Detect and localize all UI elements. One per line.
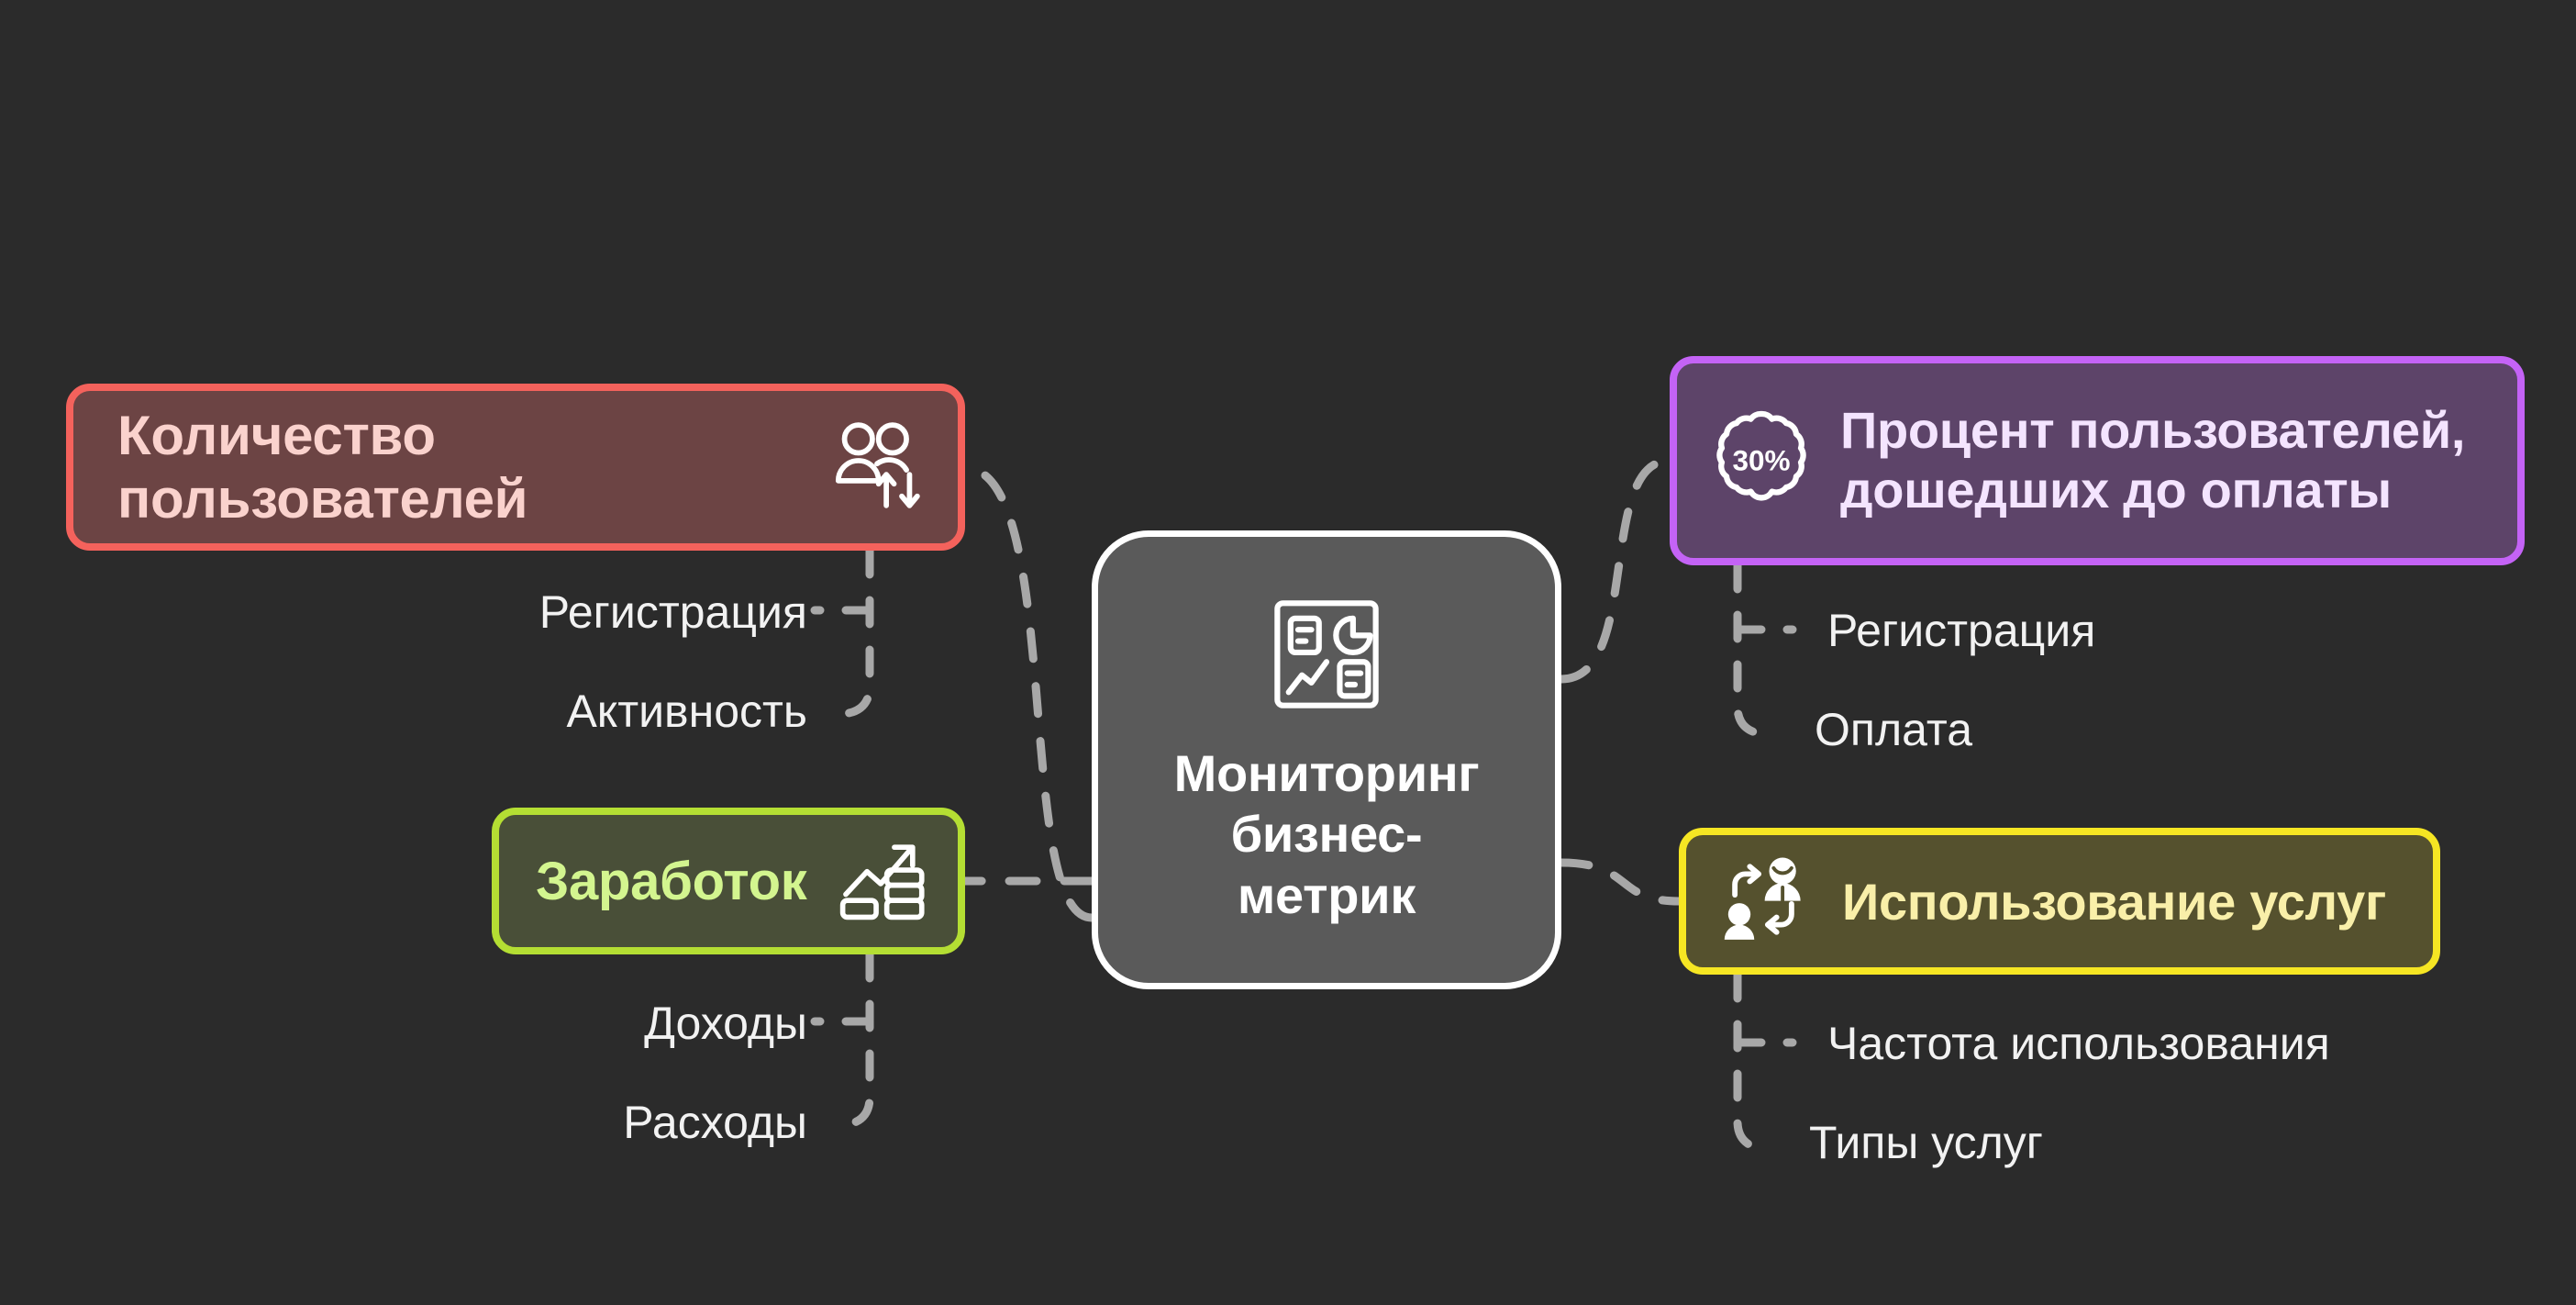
dashboard-report-icon xyxy=(1266,594,1387,719)
sub-label-services-types: Типы услуг xyxy=(1809,1116,2043,1169)
sub-label-conversion-registration: Регистрация xyxy=(1827,604,2095,657)
branch-node-services-label: Использование услуг xyxy=(1842,872,2386,931)
percent-badge-30-icon: 30% xyxy=(1710,407,1813,515)
percent-badge-text: 30% xyxy=(1732,443,1790,476)
center-node-label: Мониторинг бизнес- метрик xyxy=(1174,743,1480,925)
edge-center-to-services xyxy=(1561,863,1679,901)
edge-services-children xyxy=(1738,975,1768,1149)
sub-label-services-frequency: Частота использования xyxy=(1827,1017,2330,1070)
branch-node-users-label: Количество пользователей xyxy=(117,404,827,530)
branch-node-earnings-label: Заработок xyxy=(536,851,807,912)
branch-node-conversion-label: Процент пользователей, дошедших до оплат… xyxy=(1840,401,2465,520)
sub-label-earnings-expenses: Расходы xyxy=(0,1096,807,1149)
center-node[interactable]: Мониторинг бизнес- метрик xyxy=(1092,530,1561,989)
edge-earnings-children xyxy=(839,954,870,1125)
branch-node-services[interactable]: Использование услуг xyxy=(1679,828,2440,975)
sub-label-users-activity: Активность xyxy=(0,685,807,738)
edge-users-children xyxy=(839,551,870,714)
sub-label-users-registration: Регистрация xyxy=(0,586,807,639)
growth-coins-icon xyxy=(837,831,934,932)
branch-node-users[interactable]: Количество пользователей xyxy=(66,384,965,551)
edge-conversion-children xyxy=(1738,565,1768,734)
edge-center-to-users xyxy=(965,468,1092,918)
edge-center-to-conversion xyxy=(1561,461,1670,679)
mindmap-canvas: Мониторинг бизнес- метрик Количество пол… xyxy=(0,0,2576,1305)
sub-label-conversion-payment: Оплата xyxy=(1815,703,1972,756)
branch-node-earnings[interactable]: Заработок xyxy=(492,808,965,954)
users-rotation-icon xyxy=(1715,852,1811,952)
branch-node-conversion[interactable]: 30% Процент пользователей, дошедших до о… xyxy=(1670,356,2525,565)
users-exchange-icon xyxy=(827,416,927,519)
sub-label-earnings-income: Доходы xyxy=(0,997,807,1050)
